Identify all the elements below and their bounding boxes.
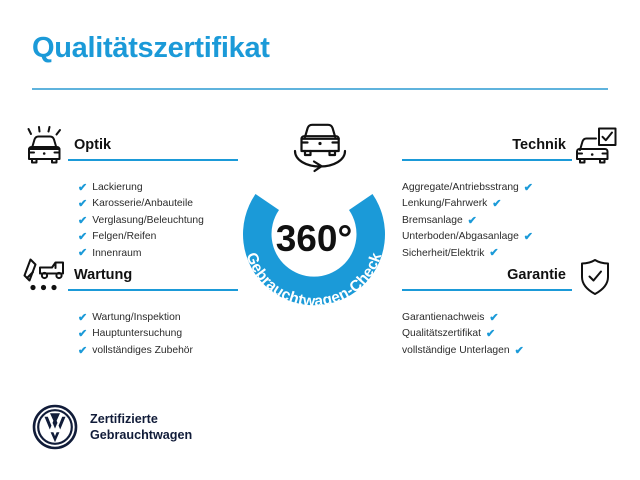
section-title-wrap-wartung: Wartung — [68, 256, 238, 291]
section-divider-technik — [402, 159, 572, 161]
section-title-garantie: Garantie — [402, 268, 572, 284]
car-rotation-icon — [281, 118, 359, 180]
list-item-label: Qualitätszertifikat — [402, 326, 481, 342]
check-icon: ✔ — [515, 346, 524, 357]
section-title-wrap-optik: Optik — [68, 126, 238, 161]
list-item: ✔ Unterboden/Abgasanlage — [402, 229, 618, 245]
check-icon: ✔ — [486, 329, 495, 340]
list-item: ✔ Karosserie/Anbauteile — [22, 196, 238, 212]
section-wartung: Wartung ✔ Wartung/Inspektion ✔ Hauptunte… — [22, 256, 238, 359]
list-item-label: Garantienachweis — [402, 310, 484, 326]
section-optik: Optik ✔ Lackierung ✔ Karosserie/Anbautei… — [22, 126, 238, 262]
vw-footer-line1: Zertifizierte — [90, 411, 192, 427]
section-title-wrap-technik: Technik — [402, 126, 572, 161]
check-icon: ✔ — [524, 232, 533, 243]
list-item: ✔ Lenkung/Fahrwerk — [402, 196, 618, 212]
list-item-label: vollständiges Zubehör — [92, 343, 193, 359]
page-title: Qualitätszertifikat — [32, 33, 270, 65]
list-item-label: Felgen/Reifen — [92, 229, 156, 245]
list-item-label: Wartung/Inspektion — [92, 310, 180, 326]
check-icon: ✔ — [489, 313, 498, 324]
check-icon: ✔ — [78, 232, 87, 243]
list-item: ✔ vollständige Unterlagen — [402, 343, 618, 359]
list-item: ✔ Hauptuntersuchung — [22, 326, 238, 342]
vw-footer-line2: Gebrauchtwagen — [90, 427, 192, 443]
section-divider-garantie — [402, 289, 572, 291]
check-icon: ✔ — [78, 216, 87, 227]
vw-logo — [32, 404, 78, 450]
section-header-technik: Technik — [402, 126, 618, 172]
section-divider-optik — [68, 159, 238, 161]
checklist-optik: ✔ Lackierung ✔ Karosserie/Anbauteile ✔ V… — [22, 180, 238, 262]
section-garantie: Garantie ✔ Garantienachweis ✔ Qualitätsz… — [402, 256, 618, 359]
vw-footer: Zertifizierte Gebrauchtwagen — [32, 404, 192, 450]
check-icon: ✔ — [78, 313, 87, 324]
list-item: ✔ vollständiges Zubehör — [22, 343, 238, 359]
list-item-label: Aggregate/Antriebsstrang — [402, 180, 519, 196]
list-item-label: Karosserie/Anbauteile — [92, 196, 193, 212]
certificate-page: Qualitätszertifikat — [0, 0, 640, 480]
list-item-label: Bremsanlage — [402, 213, 463, 229]
list-item: ✔ Qualitätszertifikat — [402, 326, 618, 342]
list-item-label: Lackierung — [92, 180, 142, 196]
check-icon: ✔ — [524, 183, 533, 194]
check-icon: ✔ — [492, 199, 501, 210]
badge-value: 360° — [276, 218, 353, 259]
check-icon: ✔ — [78, 346, 87, 357]
section-divider-wartung — [68, 289, 238, 291]
list-item-label: Verglasung/Beleuchtung — [92, 213, 204, 229]
checklist-technik: ✔ Aggregate/Antriebsstrang ✔ Lenkung/Fah… — [402, 180, 618, 262]
section-title-optik: Optik — [68, 138, 238, 154]
list-item: ✔ Felgen/Reifen — [22, 229, 238, 245]
list-item: ✔ Lackierung — [22, 180, 238, 196]
section-technik: Technik ✔ Aggregate/Antriebsstrang ✔ Len… — [402, 126, 618, 262]
list-item-label: Hauptuntersuchung — [92, 326, 182, 342]
check-icon: ✔ — [78, 183, 87, 194]
section-header-optik: Optik — [22, 126, 238, 172]
list-item-label: vollständige Unterlagen — [402, 343, 510, 359]
car-shine-icon — [22, 126, 68, 168]
section-header-wartung: Wartung — [22, 256, 238, 302]
section-title-wrap-garantie: Garantie — [402, 256, 572, 291]
checklist-garantie: ✔ Garantienachweis ✔ Qualitätszertifikat… — [402, 310, 618, 359]
section-title-wartung: Wartung — [68, 268, 238, 284]
list-item: ✔ Aggregate/Antriebsstrang — [402, 180, 618, 196]
check-icon: ✔ — [468, 216, 477, 227]
check-icon: ✔ — [78, 199, 87, 210]
service-pen-car-icon — [22, 256, 68, 298]
list-item: ✔ Verglasung/Beleuchtung — [22, 213, 238, 229]
list-item: ✔ Garantienachweis — [402, 310, 618, 326]
list-item: ✔ Wartung/Inspektion — [22, 310, 238, 326]
checklist-wartung: ✔ Wartung/Inspektion ✔ Hauptuntersuchung… — [22, 310, 238, 359]
list-item-label: Unterboden/Abgasanlage — [402, 229, 519, 245]
section-header-garantie: Garantie — [402, 256, 618, 302]
title-divider — [32, 88, 608, 90]
car-checkbox-icon — [572, 126, 618, 168]
check-icon: ✔ — [78, 329, 87, 340]
list-item: ✔ Bremsanlage — [402, 213, 618, 229]
vw-footer-text: Zertifizierte Gebrauchtwagen — [90, 411, 192, 443]
list-item-label: Lenkung/Fahrwerk — [402, 196, 487, 212]
shield-check-icon — [572, 256, 618, 298]
section-title-technik: Technik — [402, 138, 572, 154]
